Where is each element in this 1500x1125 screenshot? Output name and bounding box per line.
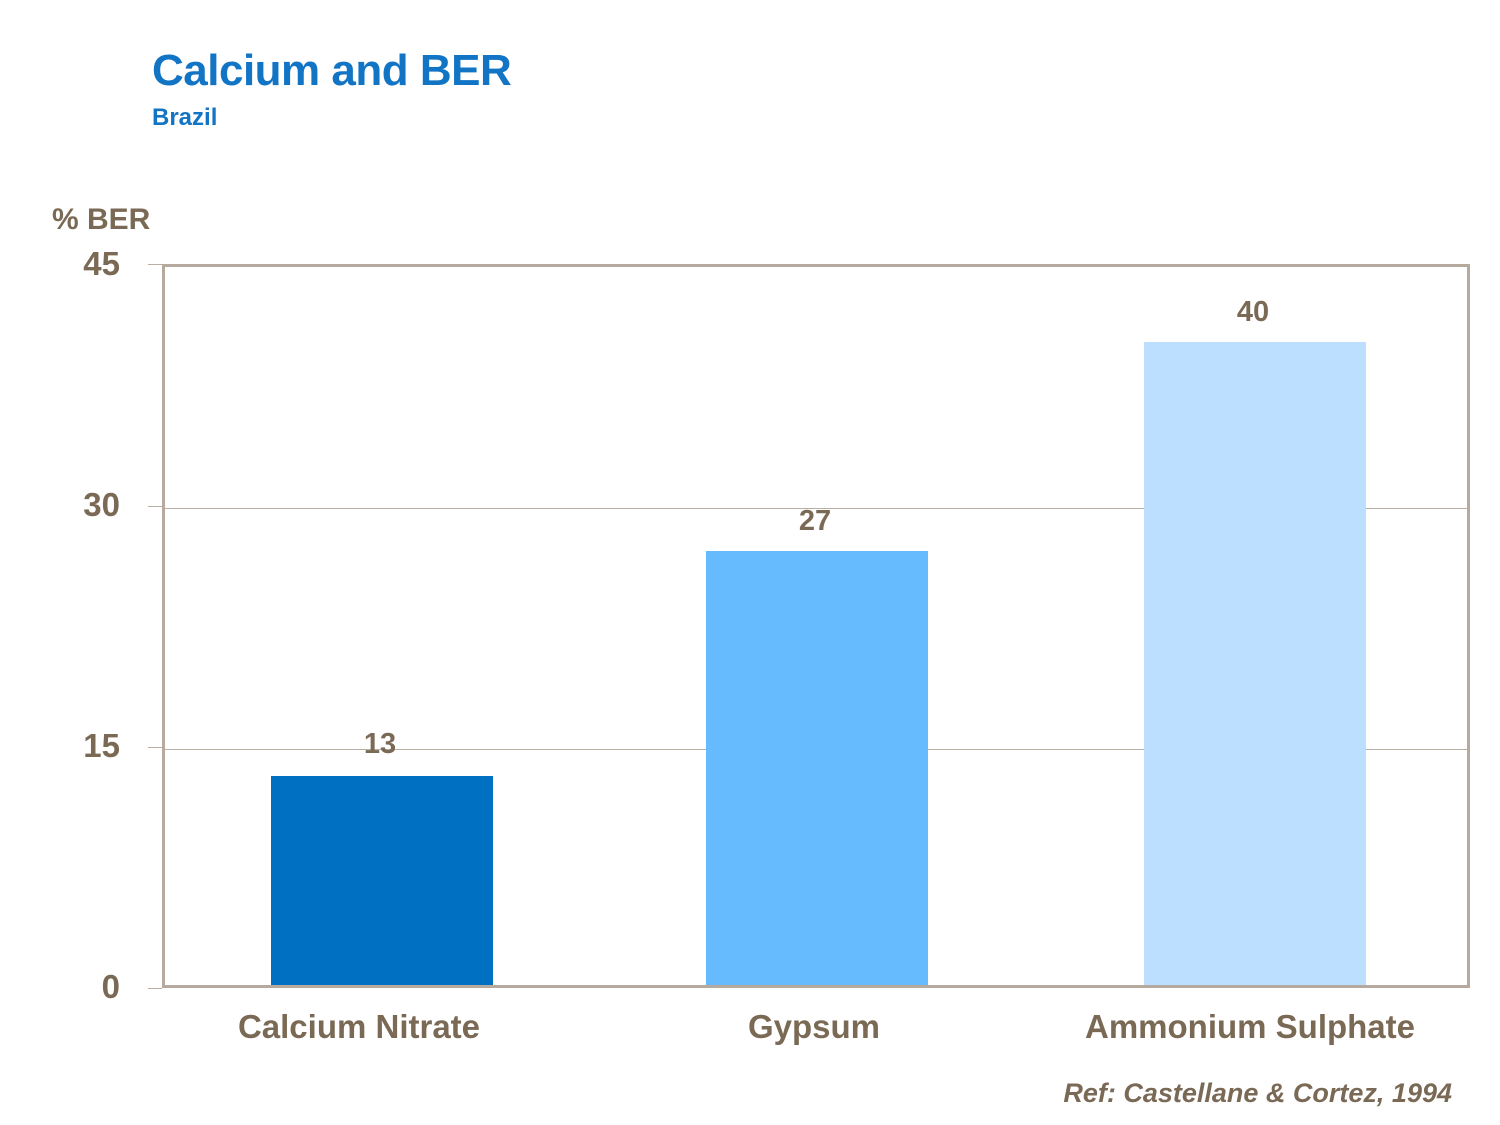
- y-tick-label-15: 15: [10, 727, 120, 765]
- bar-ammonium-sulphate[interactable]: [1144, 342, 1366, 985]
- bar-value-label-calcium-nitrate: 13: [330, 728, 430, 761]
- y-tick-mark-0: [148, 988, 162, 989]
- x-axis-label-ammonium-sulphate: Ammonium Sulphate: [1030, 1008, 1470, 1046]
- bar-calcium-nitrate[interactable]: [271, 776, 493, 985]
- plot-area: [162, 264, 1470, 988]
- page-title: Calcium and BER: [152, 48, 511, 94]
- bar-gypsum[interactable]: [706, 551, 928, 985]
- title-block: Calcium and BER Brazil: [152, 48, 511, 132]
- x-axis-label-calcium-nitrate: Calcium Nitrate: [139, 1008, 579, 1046]
- y-tick-mark-15: [148, 747, 162, 748]
- y-tick-mark-45: [148, 264, 162, 265]
- y-tick-label-45: 45: [10, 245, 120, 283]
- y-tick-label-30: 30: [10, 486, 120, 524]
- reference-note: Ref: Castellane & Cortez, 1994: [1063, 1078, 1452, 1109]
- x-axis-label-gypsum: Gypsum: [594, 1008, 1034, 1046]
- bar-value-label-ammonium-sulphate: 40: [1203, 296, 1303, 329]
- y-tick-mark-30: [148, 506, 162, 507]
- y-axis-title: % BER: [52, 203, 150, 237]
- bar-value-label-gypsum: 27: [765, 505, 865, 538]
- y-tick-label-0: 0: [10, 968, 120, 1006]
- page-subtitle: Brazil: [152, 104, 511, 132]
